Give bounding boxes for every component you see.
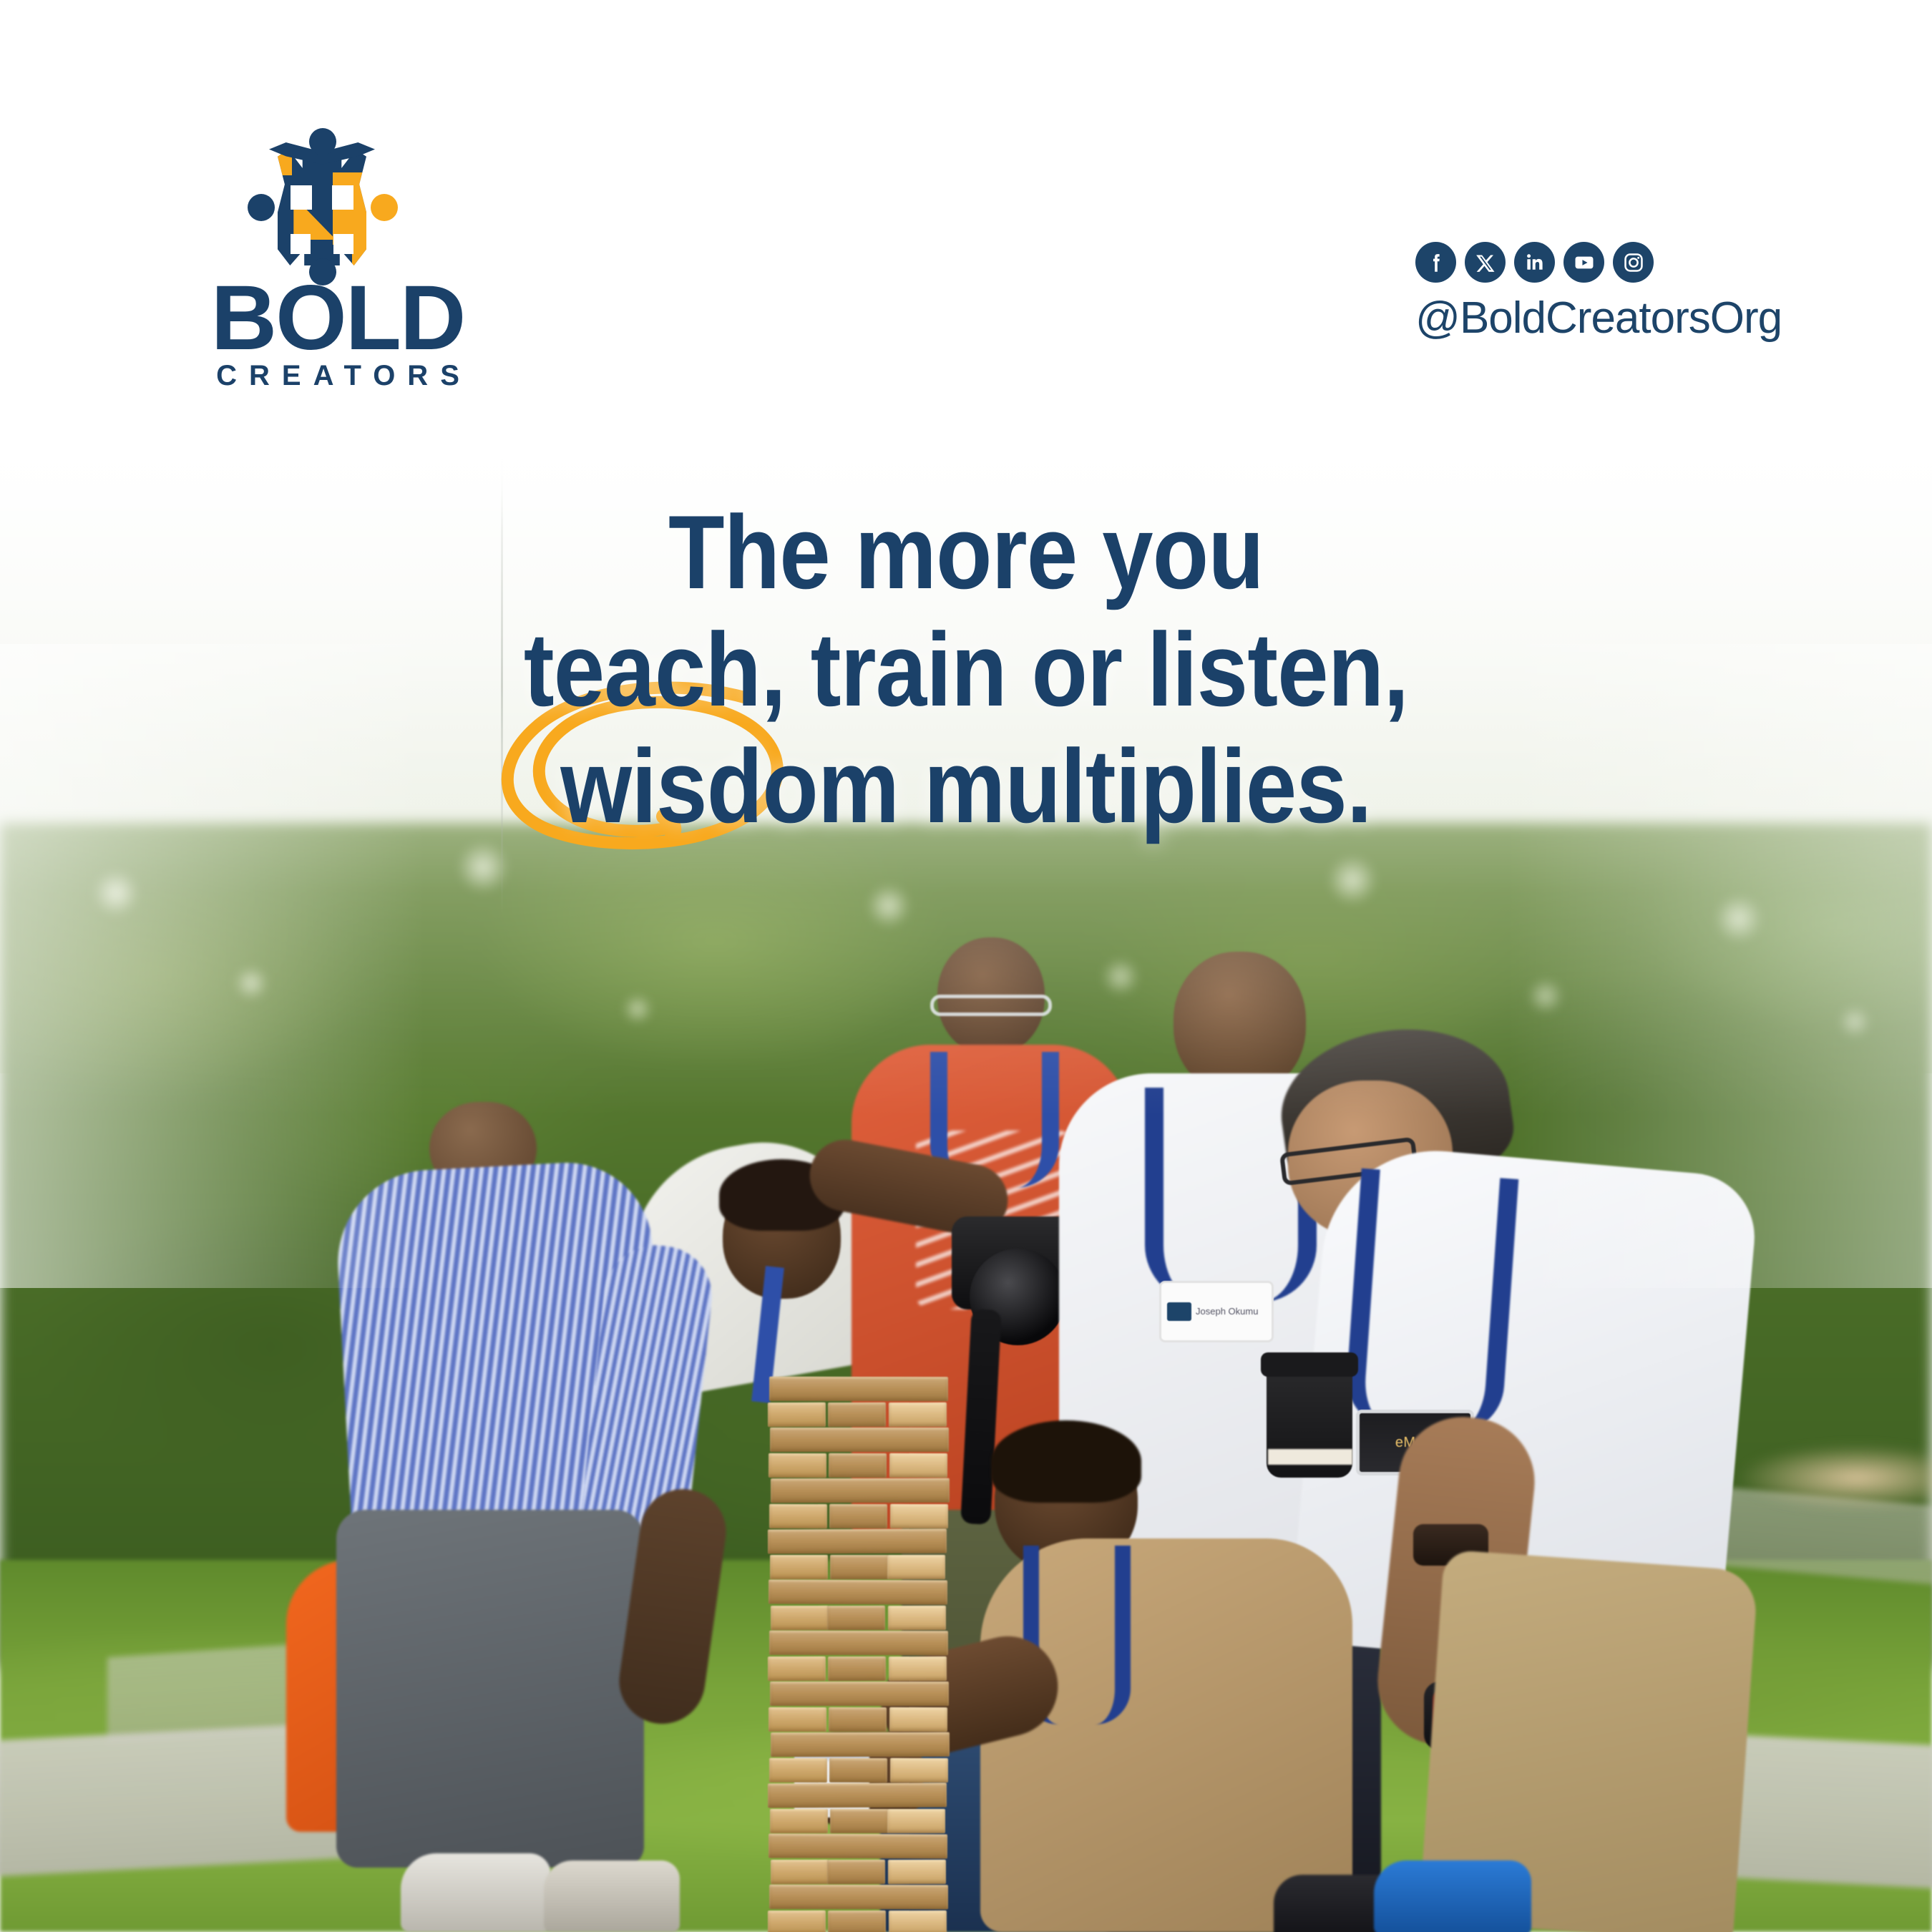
shoe xyxy=(1374,1860,1531,1932)
name-badge: Joseph Okumu xyxy=(1159,1281,1274,1342)
header-band: BOLD CREATORS xyxy=(0,0,1932,444)
man-striped-blue-shirt-shorts xyxy=(336,1510,644,1868)
headline-line-2: teach, train or listen, xyxy=(116,611,1816,728)
jenga-block xyxy=(830,1555,888,1579)
brand-wordmark: BOLD xyxy=(187,273,488,350)
jenga-block xyxy=(829,1453,887,1477)
jenga-block xyxy=(769,1757,827,1782)
jenga-block xyxy=(768,1402,826,1426)
social-icon-row xyxy=(1415,242,1787,283)
jenga-block xyxy=(889,1707,947,1731)
social-block: @BoldCreatorsOrg xyxy=(1415,242,1787,343)
eyeglasses-icon xyxy=(930,995,1052,1016)
coffee-cup-band xyxy=(1268,1449,1352,1465)
jenga-block xyxy=(769,1707,826,1731)
headline-line-1: The more you xyxy=(116,494,1816,611)
coffee-cup-lid xyxy=(1261,1352,1358,1377)
mark-notch xyxy=(291,185,312,210)
x-twitter-icon[interactable] xyxy=(1465,242,1506,283)
bold-creators-people-mark-icon xyxy=(243,132,401,286)
badge-name: Joseph Okumu xyxy=(1196,1307,1258,1317)
headline-line-3: wisdom multiplies. xyxy=(116,728,1816,845)
jenga-block xyxy=(768,1910,826,1932)
jenga-block xyxy=(889,1453,947,1477)
linkedin-icon[interactable] xyxy=(1514,242,1555,283)
jenga-block xyxy=(830,1809,888,1833)
jenga-block xyxy=(828,1910,886,1932)
social-handle[interactable]: @BoldCreatorsOrg xyxy=(1415,293,1787,343)
jenga-block xyxy=(828,1402,886,1426)
jenga-block xyxy=(827,1605,885,1629)
jenga-block xyxy=(828,1656,886,1680)
badge-logo-icon xyxy=(1167,1302,1191,1321)
jenga-block xyxy=(889,1402,947,1426)
jenga-block xyxy=(769,1453,826,1477)
jenga-block xyxy=(887,1809,945,1833)
headline-text: The more you teach, train or listen, wis… xyxy=(0,494,1932,845)
jenga-block xyxy=(889,1910,947,1932)
jenga-block xyxy=(827,1859,885,1883)
youtube-icon[interactable] xyxy=(1563,242,1604,283)
jenga-block xyxy=(770,1809,828,1833)
lanyard-strap xyxy=(1344,1169,1519,1436)
shoe xyxy=(544,1860,680,1932)
jenga-block xyxy=(768,1656,826,1680)
jenga-block xyxy=(829,1503,887,1528)
jenga-block xyxy=(770,1555,828,1579)
jenga-block xyxy=(829,1707,887,1731)
jenga-block xyxy=(888,1859,946,1883)
jenga-block xyxy=(889,1656,947,1680)
brand-tagline: CREATORS xyxy=(187,360,488,392)
mark-head-right xyxy=(371,194,398,221)
dirt-patch xyxy=(1739,1445,1932,1510)
instagram-icon[interactable] xyxy=(1613,242,1654,283)
social-post-canvas: Joseph Okumu eMoD xyxy=(0,0,1932,1932)
shoe xyxy=(401,1853,551,1932)
facebook-icon[interactable] xyxy=(1415,242,1456,283)
mark-head-top xyxy=(309,128,336,155)
jenga-block xyxy=(771,1605,829,1629)
mark-head-left xyxy=(248,194,275,221)
mark-notch xyxy=(291,234,311,254)
man-tan-polo-hair xyxy=(991,1420,1141,1503)
jenga-block xyxy=(829,1757,887,1782)
jenga-block xyxy=(769,1503,827,1528)
jenga-block xyxy=(888,1605,946,1629)
jenga-block xyxy=(890,1503,948,1528)
mark-notch xyxy=(333,234,353,254)
jenga-block xyxy=(887,1555,945,1579)
jenga-block xyxy=(890,1757,948,1782)
brand-logo[interactable]: BOLD CREATORS xyxy=(187,132,488,397)
mark-notch xyxy=(332,185,353,210)
giant-jenga-tower xyxy=(769,1392,948,1932)
jenga-block xyxy=(771,1859,829,1883)
